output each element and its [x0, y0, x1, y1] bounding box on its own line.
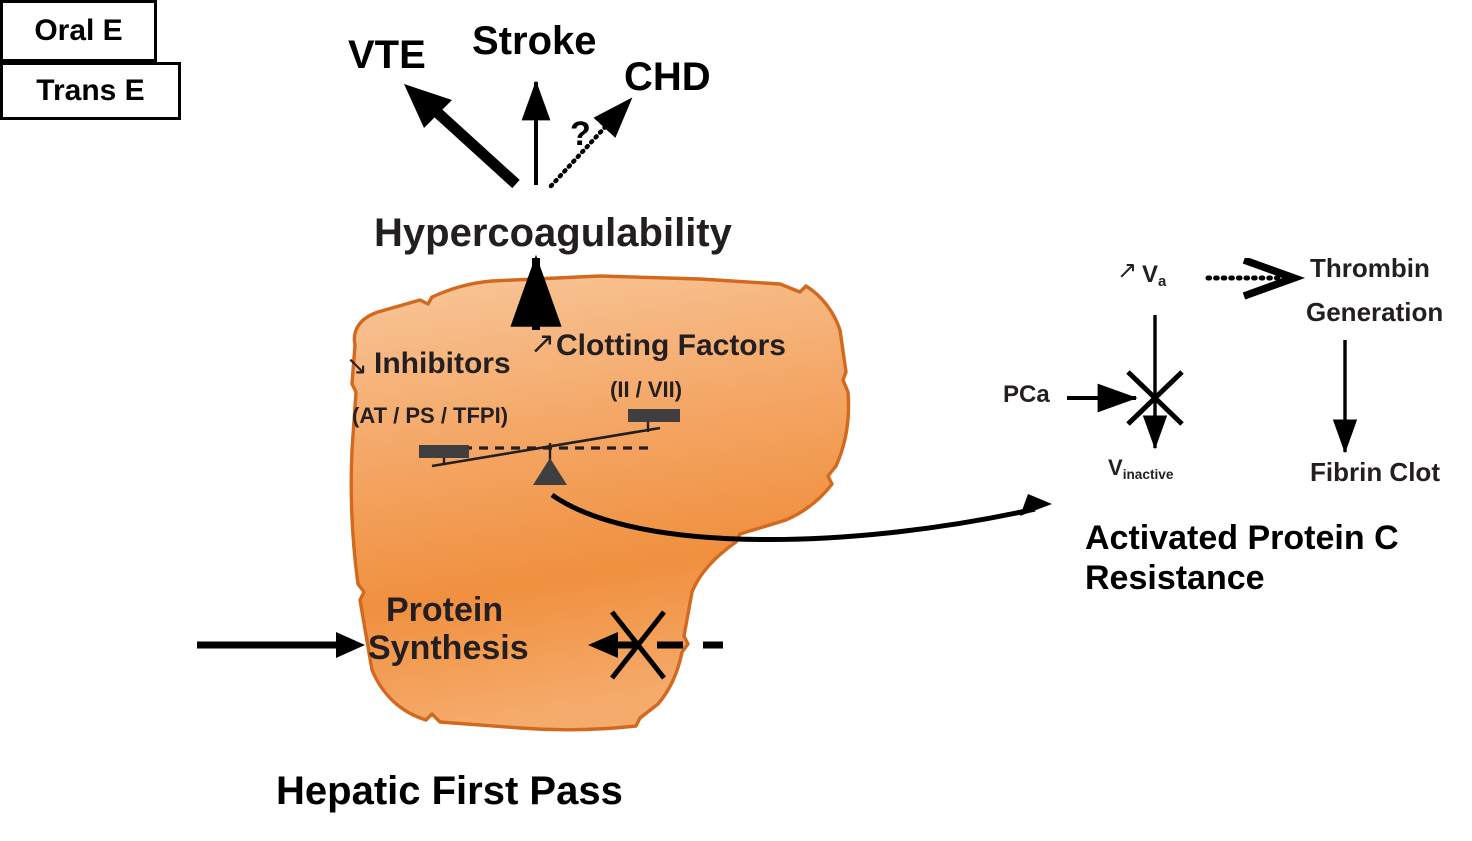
diagram-canvas: VTE Stroke CHD ? Hypercoagulability ↗ Cl… [0, 0, 1472, 841]
diagram-vector-layer [0, 0, 1472, 841]
uncertainty-question-mark: ? [570, 116, 591, 153]
balance-pan-clotting-factors [628, 409, 680, 422]
up-arrow-icon-factor-va: ↗ [1117, 258, 1137, 284]
apc-panel-vectors [1067, 278, 1345, 452]
apc-caption-line1: Activated Protein C [1085, 520, 1399, 557]
mechanism-detail-inhibitors: (AT / PS / TFPI) [352, 404, 508, 428]
apc-label-thrombin-line2: Generation [1306, 298, 1443, 326]
mechanism-label-hypercoagulability: Hypercoagulability [374, 212, 732, 255]
outcome-label-chd: CHD [624, 56, 711, 99]
apc-label-fibrin-clot: Fibrin Clot [1310, 458, 1440, 486]
figure-caption-hepatic-first-pass: Hepatic First Pass [276, 770, 623, 813]
mechanism-label-inhibitors: Inhibitors [374, 348, 511, 380]
up-arrow-icon-clotting-factors: ↗ [530, 328, 555, 360]
factor-v-inactive-subscript: inactive [1123, 467, 1174, 482]
apc-label-factor-va: Va [1142, 262, 1166, 290]
outcome-label-vte: VTE [348, 34, 426, 77]
outcome-label-stroke: Stroke [472, 20, 597, 63]
factor-va-base: V [1142, 261, 1158, 288]
factor-v-inactive-base: V [1108, 455, 1123, 480]
factor-va-subscript: a [1158, 274, 1166, 290]
apc-label-thrombin-line1: Thrombin [1310, 254, 1430, 282]
arrow-hypercoagulability-to-vte [404, 84, 516, 184]
mechanism-detail-clotting-factors: (II / VII) [610, 378, 682, 402]
apc-label-factor-v-inactive: Vinactive [1108, 456, 1173, 483]
mechanism-label-clotting-factors: Clotting Factors [556, 330, 786, 362]
apc-caption-line2: Resistance [1085, 560, 1265, 597]
balance-pan-inhibitors [419, 445, 469, 458]
mechanism-label-protein-synthesis-line2: Synthesis [368, 630, 529, 667]
mechanism-label-protein-synthesis-line1: Protein [386, 592, 503, 629]
apc-label-pca: PCa [1003, 382, 1050, 408]
arrow-oral-estrogen-to-protein-synthesis [197, 632, 365, 658]
down-arrow-icon-inhibitors: ↘ [346, 352, 368, 380]
